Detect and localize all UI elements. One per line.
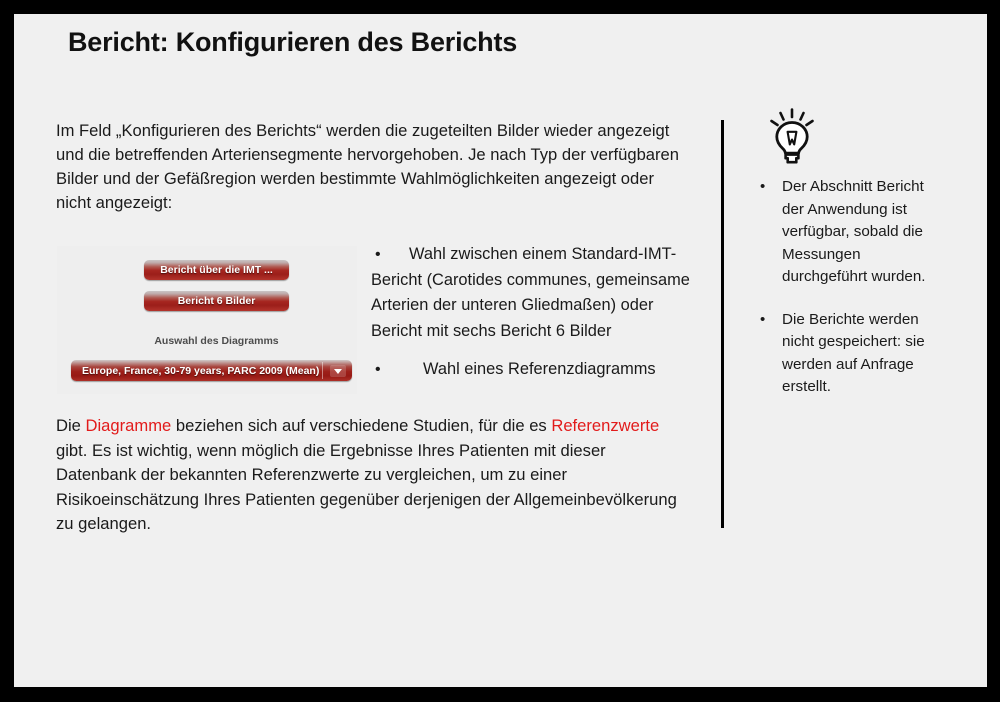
main-bullet-list: • Wahl zwischen einem Standard-IMT-Beric… bbox=[371, 242, 691, 396]
lower-part-3: gibt. Es ist wichtig, wenn möglich die E… bbox=[56, 441, 677, 534]
list-item: • Wahl eines Referenzdiagramms bbox=[371, 357, 691, 383]
list-item-label: Der Abschnitt Bericht der Anwendung ist … bbox=[782, 178, 926, 285]
bullet-marker: • bbox=[760, 309, 765, 332]
intro-paragraph: Im Feld „Konfigurieren des Berichts“ wer… bbox=[56, 119, 681, 215]
page-title: Bericht: Konfigurieren des Berichts bbox=[68, 27, 517, 58]
list-item: • Der Abschnitt Bericht der Anwendung is… bbox=[754, 176, 934, 289]
dropdown-selected-value: Europe, France, 30-79 years, PARC 2009 (… bbox=[82, 360, 319, 381]
list-item-label: Wahl eines Referenzdiagramms bbox=[371, 357, 691, 383]
slide-canvas: Bericht: Konfigurieren des Berichts Im F… bbox=[14, 14, 987, 687]
report-six-images-button[interactable]: Bericht 6 Bilder bbox=[144, 291, 289, 311]
list-item: • Die Berichte werden nicht gespeichert:… bbox=[754, 309, 934, 399]
accent-term-diagramme: Diagramme bbox=[86, 416, 172, 435]
list-item: • Wahl zwischen einem Standard-IMT-Beric… bbox=[371, 242, 691, 344]
lower-paragraph: Die Diagramme beziehen sich auf verschie… bbox=[56, 414, 686, 537]
lower-part-2: beziehen sich auf verschiedene Studien, … bbox=[171, 416, 551, 435]
reference-chart-dropdown[interactable]: Europe, France, 30-79 years, PARC 2009 (… bbox=[71, 360, 352, 381]
dropdown-divider bbox=[322, 362, 323, 379]
bullet-marker: • bbox=[760, 176, 765, 199]
report-imt-button[interactable]: Bericht über die IMT ... bbox=[144, 260, 289, 280]
bullet-marker: • bbox=[375, 242, 381, 268]
bullet-marker: • bbox=[375, 357, 381, 383]
chevron-down-icon[interactable] bbox=[330, 365, 346, 377]
app-screenshot: Bericht über die IMT ... Bericht 6 Bilde… bbox=[57, 246, 357, 394]
lightbulb-icon bbox=[765, 108, 819, 164]
tip-list: • Der Abschnitt Bericht der Anwendung is… bbox=[754, 176, 934, 419]
accent-term-referenzwerte: Referenzwerte bbox=[551, 416, 659, 435]
lower-part-1: Die bbox=[56, 416, 86, 435]
list-item-label: Die Berichte werden nicht gespeichert: s… bbox=[782, 311, 925, 396]
chart-select-label: Auswahl des Diagramms bbox=[144, 335, 289, 347]
list-item-label: Wahl zwischen einem Standard-IMT-Bericht… bbox=[371, 242, 691, 344]
vertical-divider bbox=[721, 120, 724, 528]
